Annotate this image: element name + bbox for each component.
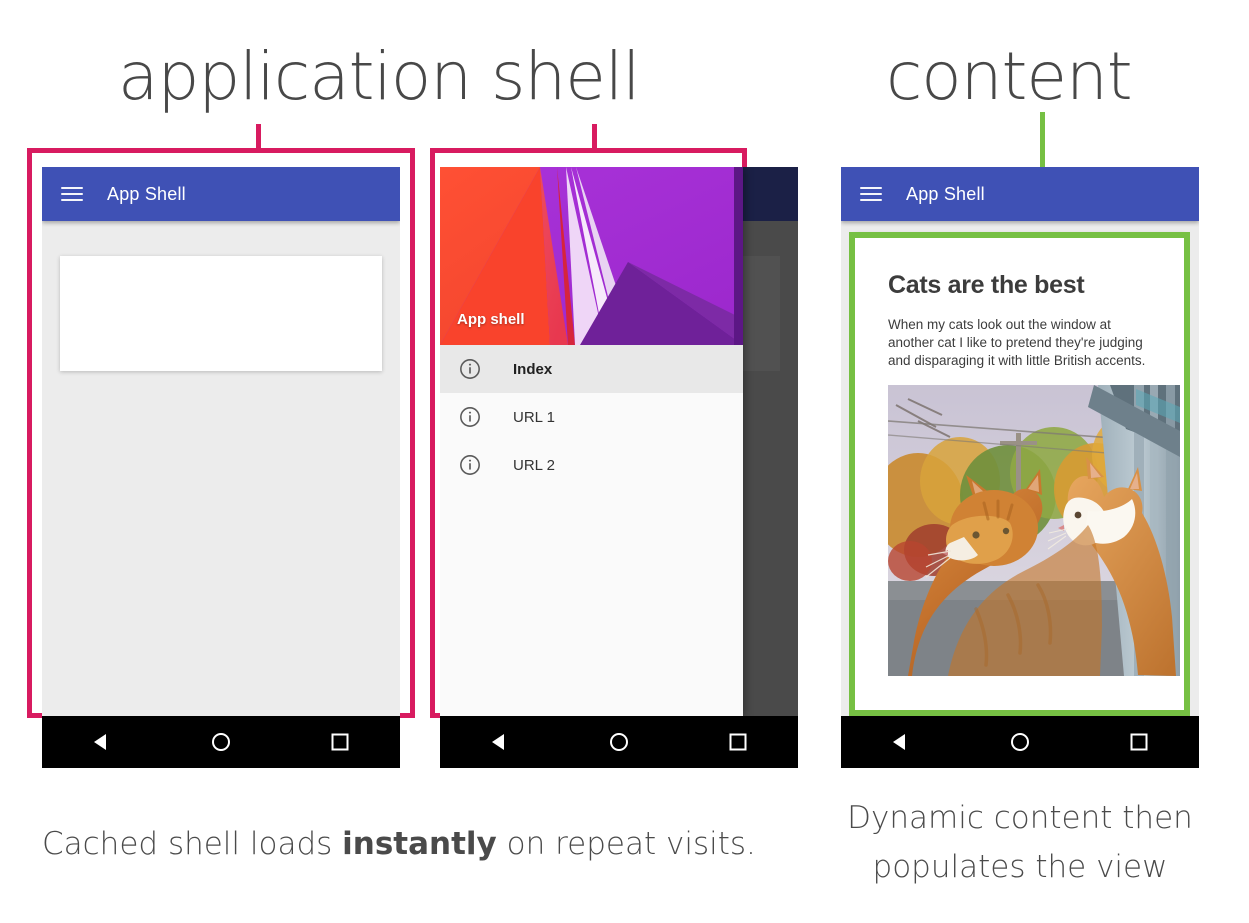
- phone3-appbar: App Shell: [841, 167, 1199, 221]
- drawer-item-url-1[interactable]: URL 1: [440, 393, 743, 441]
- caption-right-line1: Dynamic content then: [841, 800, 1199, 836]
- heading-application-shell: application shell: [118, 38, 640, 115]
- info-circle-icon: [459, 358, 481, 380]
- navigation-drawer: App shell Index: [440, 167, 743, 716]
- empty-placeholder-card: [60, 256, 382, 371]
- drawer-item-label: URL 1: [513, 409, 555, 426]
- back-triangle-icon[interactable]: [489, 731, 511, 753]
- heading-content: content: [886, 38, 1132, 115]
- phone1-content-area: [42, 221, 400, 716]
- phone2-screen: App shell Index: [440, 167, 798, 716]
- annotation-box-content: [849, 232, 1190, 716]
- drawer-menu-list: Index URL 1: [440, 345, 743, 489]
- caption-left-post: on repeat visits.: [497, 826, 756, 862]
- home-circle-icon[interactable]: [1009, 731, 1031, 753]
- recents-square-icon[interactable]: [727, 731, 749, 753]
- hamburger-icon[interactable]: [860, 187, 882, 201]
- phone2-android-navbar: [440, 716, 798, 768]
- back-triangle-icon[interactable]: [91, 731, 113, 753]
- hamburger-icon[interactable]: [61, 187, 83, 201]
- home-circle-icon[interactable]: [608, 731, 630, 753]
- drawer-item-label: URL 2: [513, 457, 555, 474]
- caption-left-bold: instantly: [342, 826, 497, 862]
- back-triangle-icon[interactable]: [890, 731, 912, 753]
- caption-left-pre: Cached shell loads: [42, 826, 342, 862]
- recents-square-icon[interactable]: [1128, 731, 1150, 753]
- drawer-item-index[interactable]: Index: [440, 345, 743, 393]
- caption-right-line2: populates the view: [841, 849, 1199, 885]
- phone1-appbar-title: App Shell: [107, 184, 186, 205]
- drawer-item-label: Index: [513, 361, 552, 378]
- home-circle-icon[interactable]: [210, 731, 232, 753]
- drawer-header-label: App shell: [457, 311, 525, 328]
- phone1-android-navbar: [42, 716, 400, 768]
- phone1-screen: App Shell: [42, 167, 400, 716]
- phone-mockup-drawer: App shell Index: [440, 167, 798, 768]
- caption-left: Cached shell loads instantly on repeat v…: [42, 826, 756, 862]
- info-circle-icon: [459, 406, 481, 428]
- recents-square-icon[interactable]: [329, 731, 351, 753]
- phone3-appbar-title: App Shell: [906, 184, 985, 205]
- drawer-header: App shell: [440, 167, 743, 345]
- info-circle-icon: [459, 454, 481, 476]
- phone-mockup-shell: App Shell: [42, 167, 400, 768]
- phone1-appbar: App Shell: [42, 167, 400, 221]
- diagram-stage: application shell content App Shell: [0, 0, 1249, 923]
- drawer-item-url-2[interactable]: URL 2: [440, 441, 743, 489]
- phone3-android-navbar: [841, 716, 1199, 768]
